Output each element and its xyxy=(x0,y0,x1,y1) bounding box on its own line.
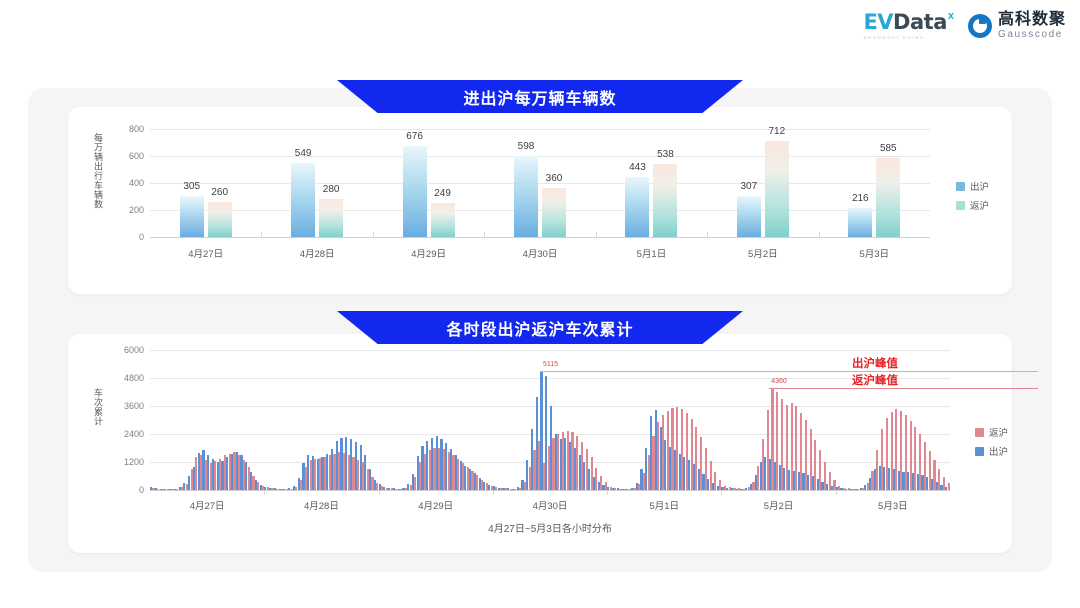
evdata-suffix: Data xyxy=(893,10,947,34)
chart1-legend: 出沪返沪 xyxy=(956,179,989,217)
chart1-y-tick: 400 xyxy=(112,178,144,188)
chart1-bar-返沪 xyxy=(431,203,455,237)
chart1-x-tick: 5月3日 xyxy=(859,246,889,260)
chart1-bar-label: 360 xyxy=(546,173,563,184)
chart1-bar-出沪 xyxy=(403,146,427,237)
chart1-y-axis-label: 每万辆出行车辆数 xyxy=(92,133,105,241)
chart1-bar-label: 538 xyxy=(657,149,674,160)
chart1-bar-出沪 xyxy=(514,156,538,237)
chart2-x-tick: 4月27日 xyxy=(190,498,225,512)
chart2-legend-swatch xyxy=(975,428,984,437)
chart1-y-tick: 0 xyxy=(112,232,144,242)
brand-header: EVData x SHANGHAI CHINA 高科数聚 Gausscode xyxy=(863,12,1066,40)
chart1-x-tick: 4月27日 xyxy=(188,246,223,260)
evdata-logo: EVData x SHANGHAI CHINA xyxy=(863,12,954,40)
chart1-legend-item-出沪[interactable]: 出沪 xyxy=(956,179,989,193)
chart2-x-tick: 5月1日 xyxy=(649,498,679,512)
evdata-prefix: EV xyxy=(863,10,893,34)
chart2-peak-refline-0 xyxy=(540,371,1038,372)
chart2-legend-label: 出沪 xyxy=(989,444,1008,458)
chart1-x-separator xyxy=(261,232,262,238)
chart1-x-separator xyxy=(373,232,374,238)
chart1-gridline xyxy=(150,156,930,157)
chart1-bar-label: 216 xyxy=(852,193,869,204)
chart1-bar-返沪 xyxy=(876,158,900,237)
chart1-bar-label: 305 xyxy=(183,181,200,192)
chart1-bar-label: 307 xyxy=(741,181,758,192)
chart1-x-tick: 4月28日 xyxy=(300,246,335,260)
chart2-y-tick: 2400 xyxy=(110,429,144,439)
chart2-y-tick: 1200 xyxy=(110,457,144,467)
chart2-x-separator xyxy=(607,490,608,495)
evdata-superscript-icon: x xyxy=(948,10,954,22)
chart2-x-tick: 4月29日 xyxy=(418,498,453,512)
chart2-gridline xyxy=(150,490,950,491)
chart1-gridline xyxy=(150,210,930,211)
chart1-x-separator xyxy=(596,232,597,238)
chart1-bar-出沪 xyxy=(848,208,872,237)
chart2-peak-value-1: 4360 xyxy=(771,378,787,385)
chart1-bar-label: 585 xyxy=(880,143,897,154)
chart1-x-tick: 4月29日 xyxy=(411,246,446,260)
chart1-bar-label: 549 xyxy=(295,148,312,159)
chart2-x-tick: 4月30日 xyxy=(533,498,568,512)
chart2-y-tick: 3600 xyxy=(110,401,144,411)
chart2-x-axis-title: 4月27日~5月3日各小时分布 xyxy=(488,520,612,535)
gausscode-cn-name: 高科数聚 xyxy=(998,12,1066,28)
chart2-x-separator xyxy=(264,490,265,495)
chart1-legend-label: 出沪 xyxy=(970,179,989,193)
gausscode-logo: 高科数聚 Gausscode xyxy=(968,12,1066,40)
chart1-bar-出沪 xyxy=(737,196,761,237)
chart1-y-tick: 600 xyxy=(112,151,144,161)
chart1-bar-label: 280 xyxy=(323,184,340,195)
chart2-gridline xyxy=(150,378,950,379)
evdata-tagline: SHANGHAI CHINA xyxy=(863,35,924,40)
chart1-title-banner: 进出沪每万辆车辆数 xyxy=(337,80,743,113)
chart1-bar-出沪 xyxy=(291,163,315,237)
chart2-y-axis-label: 车次累计 xyxy=(92,388,105,426)
chart1-x-tick: 4月30日 xyxy=(523,246,558,260)
chart2-y-tick: 0 xyxy=(110,485,144,495)
bar-chart-hourly: 车次累计0120024003600480060004月27日4月28日4月29日… xyxy=(68,334,1012,553)
chart1-gridline xyxy=(150,237,930,238)
chart1-x-tick: 5月2日 xyxy=(748,246,778,260)
chart2-x-separator xyxy=(721,490,722,495)
chart1-bar-label: 598 xyxy=(518,141,535,152)
chart1-y-tick: 200 xyxy=(112,205,144,215)
chart1-bar-label: 260 xyxy=(211,187,228,198)
chart2-x-separator xyxy=(493,490,494,495)
chart2-y-tick: 6000 xyxy=(110,345,144,355)
chart2-x-separator xyxy=(836,490,837,495)
chart1-x-separator xyxy=(707,232,708,238)
chart1-bar-label: 249 xyxy=(434,188,451,199)
chart1-legend-swatch xyxy=(956,201,965,210)
chart1-y-tick: 800 xyxy=(112,124,144,134)
chart1-bar-出沪 xyxy=(180,196,204,237)
chart1-gridline xyxy=(150,129,930,130)
chart-card-vehicles: 每万辆出行车辆数02004006008003052604月27日5492804月… xyxy=(68,107,1012,294)
chart1-bar-label: 712 xyxy=(769,126,786,137)
chart-card-hourly: 车次累计0120024003600480060004月27日4月28日4月29日… xyxy=(68,334,1012,553)
chart1-gridline xyxy=(150,183,930,184)
bar-chart-vehicles: 每万辆出行车辆数02004006008003052604月27日5492804月… xyxy=(68,107,1012,294)
evdata-text: EVData xyxy=(863,12,946,33)
chart2-x-tick: 5月3日 xyxy=(878,498,908,512)
chart2-legend-item-出沪[interactable]: 出沪 xyxy=(975,444,1008,458)
chart1-bar-出沪 xyxy=(625,177,649,237)
chart2-x-tick: 5月2日 xyxy=(764,498,794,512)
chart1-bar-label: 443 xyxy=(629,162,646,173)
chart2-legend: 返沪出沪 xyxy=(975,425,1008,463)
chart2-x-tick: 4月28日 xyxy=(304,498,339,512)
chart1-bar-返沪 xyxy=(765,141,789,237)
chart1-bar-返沪 xyxy=(653,164,677,237)
chart2-legend-item-返沪[interactable]: 返沪 xyxy=(975,425,1008,439)
chart2-legend-swatch xyxy=(975,447,984,456)
gausscode-mark-icon xyxy=(968,14,992,38)
chart2-peak-label-1: 返沪峰值 xyxy=(852,372,898,388)
chart1-bar-返沪 xyxy=(542,188,566,237)
chart1-bar-返沪 xyxy=(208,202,232,237)
gausscode-text: 高科数聚 Gausscode xyxy=(998,12,1066,40)
chart1-x-tick: 5月1日 xyxy=(637,246,667,260)
chart1-bar-返沪 xyxy=(319,199,343,237)
chart1-legend-item-返沪[interactable]: 返沪 xyxy=(956,198,989,212)
chart2-gridline xyxy=(150,350,950,351)
chart2-y-tick: 4800 xyxy=(110,373,144,383)
chart1-x-separator xyxy=(819,232,820,238)
chart1-legend-label: 返沪 xyxy=(970,198,989,212)
chart2-peak-label-0: 出沪峰值 xyxy=(852,355,898,371)
chart1-legend-swatch xyxy=(956,182,965,191)
chart2-bar-return xyxy=(948,483,950,490)
chart2-x-separator xyxy=(379,490,380,495)
chart2-legend-label: 返沪 xyxy=(989,425,1008,439)
chart1-x-separator xyxy=(484,232,485,238)
chart2-peak-refline-1 xyxy=(769,388,1038,389)
chart1-bar-label: 676 xyxy=(406,131,423,142)
gausscode-en-name: Gausscode xyxy=(998,30,1066,40)
chart2-peak-value-0: 5115 xyxy=(543,361,558,368)
chart2-title-banner: 各时段出沪返沪车次累计 xyxy=(337,311,743,344)
evdata-wordmark: EVData x xyxy=(863,12,954,33)
